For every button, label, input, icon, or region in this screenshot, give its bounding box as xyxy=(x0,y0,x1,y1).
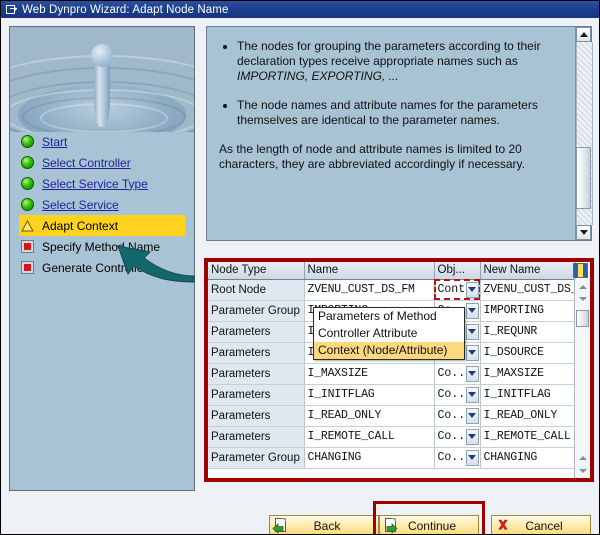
chevron-down-icon xyxy=(468,287,476,292)
back-button[interactable]: Back xyxy=(269,515,379,535)
chevron-down-icon xyxy=(580,230,588,235)
info-panel: The nodes for grouping the parameters ac… xyxy=(206,26,592,241)
page-forward-icon xyxy=(382,517,400,534)
chevron-down-icon xyxy=(468,455,476,460)
cell-new-name[interactable]: I_REQUNR xyxy=(480,321,575,342)
red-x-icon xyxy=(494,517,512,534)
cell-object-type[interactable]: Co... xyxy=(434,426,480,447)
cell-new-name[interactable]: I_DSOURCE xyxy=(480,342,575,363)
sidebar-item-label: Start xyxy=(42,135,67,149)
node-name-table-highlight: Node Type Name Obj... New Name Root Node… xyxy=(204,258,594,482)
cell-name[interactable]: CHANGING xyxy=(304,447,434,468)
cell-new-name[interactable]: I_REMOTE_CALL xyxy=(480,426,575,447)
table-grid: Node Type Name Obj... New Name Root Node… xyxy=(208,262,576,469)
sidebar-item-adapt-context[interactable]: Adapt Context xyxy=(19,215,185,236)
sidebar-item-label: Adapt Context xyxy=(42,219,118,233)
table-scrollbar-thumb[interactable] xyxy=(576,310,589,327)
continue-button[interactable]: Continue xyxy=(379,515,479,535)
cell-name[interactable]: I_REMOTE_CALL xyxy=(304,426,434,447)
cell-node-type: Parameter Group xyxy=(208,447,304,468)
app-window: Web Dynpro Wizard: Adapt Node Name Start xyxy=(0,0,600,535)
cell-name[interactable]: ZVENU_CUST_DS_FM xyxy=(304,279,434,300)
window-client-area: Start Select Controller Select Service T… xyxy=(1,18,600,535)
green-circle-icon xyxy=(21,177,34,190)
window-title-bar: Web Dynpro Wizard: Adapt Node Name xyxy=(1,1,600,18)
column-header-obj[interactable]: Obj... xyxy=(434,262,480,279)
info-bullet: The nodes for grouping the parameters ac… xyxy=(237,39,559,84)
table-row[interactable]: Parameter GroupCHANGINGCo...CHANGING xyxy=(208,447,575,468)
dropdown-toggle-button[interactable] xyxy=(466,450,479,466)
dropdown-toggle-button[interactable] xyxy=(466,408,479,424)
cell-node-type: Parameters xyxy=(208,384,304,405)
node-name-table[interactable]: Node Type Name Obj... New Name Root Node… xyxy=(208,262,590,478)
table-header-row: Node Type Name Obj... New Name xyxy=(208,262,575,279)
cancel-button[interactable]: Cancel xyxy=(491,515,591,535)
column-header-node-type[interactable]: Node Type xyxy=(208,262,304,279)
cell-new-name[interactable]: I_READ_ONLY xyxy=(480,405,575,426)
scroll-up-button[interactable] xyxy=(576,27,591,42)
cell-node-type: Parameters xyxy=(208,405,304,426)
cell-new-name[interactable]: I_MAXSIZE xyxy=(480,363,575,384)
sidebar-item-start[interactable]: Start xyxy=(19,131,185,152)
continue-button-label: Continue xyxy=(400,519,478,533)
cell-node-type: Root Node xyxy=(208,279,304,300)
cell-object-type[interactable]: Co... xyxy=(434,447,480,468)
info-note: As the length of node and attribute name… xyxy=(219,142,559,172)
wizard-step-panel: Start Select Controller Select Service T… xyxy=(9,26,195,491)
table-scroll-up-button[interactable] xyxy=(576,281,589,292)
chevron-down-icon xyxy=(468,413,476,418)
table-row[interactable]: ParametersI_MAXSIZECo...I_MAXSIZE xyxy=(208,363,575,384)
chevron-down-icon xyxy=(468,329,476,334)
dropdown-toggle-button[interactable] xyxy=(466,429,479,445)
scroll-down-button[interactable] xyxy=(576,225,591,240)
cell-object-type[interactable]: Co... xyxy=(434,363,480,384)
chevron-up-icon xyxy=(579,285,587,289)
page-back-icon xyxy=(272,517,290,534)
info-bullet-text: The nodes for grouping the parameters ac… xyxy=(237,39,541,68)
scrollbar-thumb[interactable] xyxy=(576,147,591,209)
dropdown-option[interactable]: Context (Node/Attribute) xyxy=(314,342,464,359)
info-scrollbar[interactable] xyxy=(575,27,591,240)
cell-name[interactable]: I_INITFLAG xyxy=(304,384,434,405)
back-button-label: Back xyxy=(290,519,378,533)
water-drop-ripple-image xyxy=(10,27,194,132)
info-bullet-emphasis: IMPORTING, EXPORTING, ... xyxy=(237,69,399,83)
dropdown-toggle-button[interactable] xyxy=(466,303,479,319)
dropdown-option[interactable]: Controller Attribute xyxy=(314,325,464,342)
info-bullet: The node names and attribute names for t… xyxy=(237,98,559,128)
dropdown-toggle-button[interactable] xyxy=(466,324,479,340)
cell-name[interactable]: I_MAXSIZE xyxy=(304,363,434,384)
chevron-down-icon xyxy=(579,469,587,473)
cell-object-type[interactable]: Cont xyxy=(434,279,480,300)
table-row[interactable]: ParametersI_READ_ONLYCo...I_READ_ONLY xyxy=(208,405,575,426)
sidebar-item-label: Generate Controller xyxy=(42,261,147,275)
sidebar-item-specify-method-name[interactable]: Specify Method Name xyxy=(19,236,185,257)
green-circle-icon xyxy=(21,198,34,211)
column-header-new-name[interactable]: New Name xyxy=(480,262,575,279)
table-scrollbar[interactable] xyxy=(574,279,590,478)
table-row[interactable]: Root NodeZVENU_CUST_DS_FMContZVENU_CUST_… xyxy=(208,279,575,300)
yellow-triangle-icon xyxy=(21,219,34,232)
cell-new-name[interactable]: IMPORTING xyxy=(480,300,575,321)
cell-new-name[interactable]: CHANGING xyxy=(480,447,575,468)
sidebar-item-label: Select Service xyxy=(42,198,119,212)
object-type-dropdown-menu[interactable]: Parameters of MethodController Attribute… xyxy=(313,307,465,360)
cell-node-type: Parameters xyxy=(208,426,304,447)
info-bullet-text: The node names and attribute names for t… xyxy=(237,98,538,127)
cell-object-type[interactable]: Co... xyxy=(434,405,480,426)
cancel-button-label: Cancel xyxy=(512,519,590,533)
cell-node-type: Parameter Group xyxy=(208,300,304,321)
sidebar-item-select-service-type[interactable]: Select Service Type xyxy=(19,173,185,194)
dialog-button-bar: Back Continue xyxy=(1,508,600,535)
table-scroll-down-button[interactable] xyxy=(576,465,589,476)
info-text: The nodes for grouping the parameters ac… xyxy=(219,35,559,172)
table-row[interactable]: ParametersI_REMOTE_CALLCo...I_REMOTE_CAL… xyxy=(208,426,575,447)
column-header-name[interactable]: Name xyxy=(304,262,434,279)
table-scroll-page-down-button[interactable] xyxy=(576,452,589,463)
cell-node-type: Parameters xyxy=(208,321,304,342)
green-circle-icon xyxy=(21,135,34,148)
chevron-up-icon xyxy=(579,456,587,460)
sidebar-item-select-service[interactable]: Select Service xyxy=(19,194,185,215)
cell-node-type: Parameters xyxy=(208,363,304,384)
dropdown-option[interactable]: Parameters of Method xyxy=(314,308,464,325)
cell-object-type[interactable]: Co... xyxy=(434,384,480,405)
chevron-down-icon xyxy=(468,350,476,355)
green-circle-icon xyxy=(21,156,34,169)
chevron-down-icon xyxy=(468,392,476,397)
sidebar-item-select-controller[interactable]: Select Controller xyxy=(19,152,185,173)
table-scroll-page-up-button[interactable] xyxy=(576,293,589,304)
dropdown-toggle-button[interactable] xyxy=(466,345,479,361)
dropdown-toggle-button[interactable] xyxy=(466,366,479,382)
window-wizard-icon xyxy=(5,4,18,16)
sidebar-item-label: Select Service Type xyxy=(42,177,148,191)
table-settings-icon[interactable] xyxy=(573,263,588,278)
chevron-down-icon xyxy=(468,434,476,439)
wizard-steps-list: Start Select Controller Select Service T… xyxy=(19,131,185,278)
sidebar-item-generate-controller[interactable]: Generate Controller xyxy=(19,257,185,278)
sidebar-item-label: Specify Method Name xyxy=(42,240,160,254)
red-square-icon xyxy=(21,261,34,274)
dropdown-toggle-button[interactable] xyxy=(466,282,479,298)
cell-new-name[interactable]: ZVENU_CUST_DS_FM xyxy=(480,279,575,300)
cell-new-name[interactable]: I_INITFLAG xyxy=(480,384,575,405)
chevron-down-icon xyxy=(579,297,587,301)
chevron-down-icon xyxy=(468,308,476,313)
info-bullet-list: The nodes for grouping the parameters ac… xyxy=(219,39,559,128)
sidebar-item-label: Select Controller xyxy=(42,156,131,170)
chevron-down-icon xyxy=(468,371,476,376)
cell-node-type: Parameters xyxy=(208,342,304,363)
red-square-icon xyxy=(21,240,34,253)
window-title: Web Dynpro Wizard: Adapt Node Name xyxy=(22,4,228,16)
dropdown-toggle-button[interactable] xyxy=(466,387,479,403)
table-row[interactable]: ParametersI_INITFLAGCo...I_INITFLAG xyxy=(208,384,575,405)
chevron-up-icon xyxy=(580,32,588,37)
yellow-triangle-icon-svg xyxy=(21,220,34,232)
cell-name[interactable]: I_READ_ONLY xyxy=(304,405,434,426)
